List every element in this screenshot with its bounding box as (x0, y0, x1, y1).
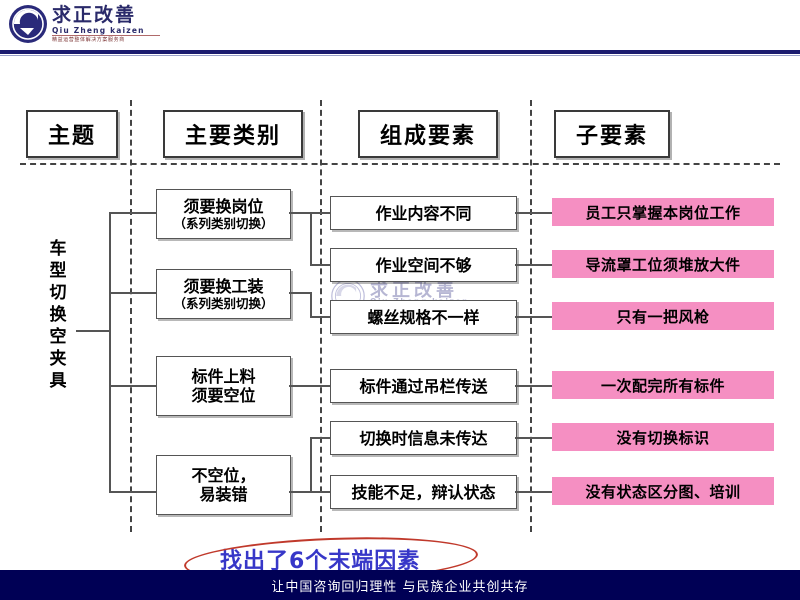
connector-comp2-to-sub2 (515, 264, 553, 266)
component-box: 作业空间不够 (330, 248, 517, 282)
connector-comp3-to-sub3 (515, 316, 553, 318)
sub-element-box: 员工只掌握本岗位工作 (552, 198, 774, 226)
sub-element-box: 一次配完所有标件 (552, 371, 774, 399)
topic-char: 换 (44, 304, 72, 326)
component-box: 作业内容不同 (330, 196, 517, 230)
connector-cat1-to-comp1 (310, 212, 330, 214)
header-row-divider (20, 163, 780, 165)
connector-cat2-stub (289, 292, 311, 294)
main-category-box: 须要换岗位 （系列类别切换） (156, 189, 291, 239)
connector-comp5-to-sub5 (515, 437, 553, 439)
connector-cat2-spine (310, 292, 312, 317)
sub-element-box: 没有状态区分图、培训 (552, 477, 774, 505)
topic-char: 车 (44, 238, 72, 260)
qiuzheng-logo-icon (8, 4, 48, 44)
connector-topic-to-cat-3 (109, 385, 156, 387)
connector-topic-to-cat-1 (109, 212, 156, 214)
main-category-line2: 易装错 (199, 485, 247, 504)
connector-topic-spine (109, 212, 111, 492)
topic-char: 型 (44, 260, 72, 282)
component-label: 技能不足，辩认状态 (351, 483, 495, 502)
component-label: 螺丝规格不一样 (367, 308, 479, 327)
main-category-box: 不空位， 易装错 (156, 455, 291, 515)
component-box: 螺丝规格不一样 (330, 300, 517, 334)
main-category-line2: （系列类别切换） (173, 216, 273, 232)
connector-cat4-to-comp6 (310, 491, 330, 493)
sub-element-box: 只有一把风枪 (552, 302, 774, 330)
connector-cat3-to-comp4 (289, 385, 330, 387)
connector-topic-to-cat-4 (109, 491, 156, 493)
component-box: 技能不足，辩认状态 (330, 475, 517, 509)
main-category-line1: 须要换岗位 (183, 197, 263, 216)
header-rule-secondary (0, 55, 800, 56)
header-component: 组成要素 (358, 110, 498, 158)
brand-tagline: 精益运营整体解决方案服务商 (52, 36, 125, 43)
slide-canvas: 求正改善 Qiu Zheng kaizen 精益运营整体解决方案服务商 主题 主… (0, 0, 800, 600)
topic-char: 夹 (44, 348, 72, 370)
brand-name-cn: 求正改善 (52, 4, 136, 26)
main-category-box: 须要换工装 （系列类别切换） (156, 269, 291, 319)
connector-cat4-to-comp5 (310, 437, 330, 439)
connector-cat1-spine (310, 212, 312, 265)
topic-char: 切 (44, 282, 72, 304)
brand-name-pinyin: Qiu Zheng kaizen (52, 26, 145, 35)
main-category-line2: （系列类别切换） (173, 296, 273, 312)
topic-char: 空 (44, 326, 72, 348)
topic-char: 具 (44, 370, 72, 392)
footer-text: 让中国咨询回归理性 与民族企业共创共存 (0, 576, 800, 595)
header-main-category: 主要类别 (163, 110, 303, 158)
connector-cat2-to-comp3 (310, 316, 330, 318)
connector-cat4-stub (289, 491, 311, 493)
main-category-line1: 须要换工装 (183, 277, 263, 296)
component-box: 标件通过吊栏传送 (330, 369, 517, 403)
connector-comp6-to-sub6 (515, 491, 553, 493)
header-rule-primary (0, 50, 800, 54)
sub-element-box: 没有切换标识 (552, 423, 774, 451)
main-category-line2: 须要空位 (191, 386, 255, 405)
connector-cat1-to-comp2 (310, 264, 330, 266)
brand-logo: 求正改善 Qiu Zheng kaizen 精益运营整体解决方案服务商 (6, 2, 166, 46)
connector-topic-stub (76, 330, 110, 332)
main-category-box: 标件上料 须要空位 (156, 356, 291, 416)
component-label: 切换时信息未传达 (359, 429, 487, 448)
component-label: 标件通过吊栏传送 (359, 377, 487, 396)
main-category-line1: 标件上料 (191, 367, 255, 386)
connector-cat4-spine (310, 437, 312, 492)
connector-cat1-stub (289, 212, 311, 214)
header-topic: 主题 (26, 110, 118, 158)
component-label: 作业空间不够 (375, 256, 471, 275)
component-label: 作业内容不同 (375, 204, 471, 223)
header-sub-element: 子要素 (554, 110, 670, 158)
connector-comp4-to-sub4 (515, 385, 553, 387)
sub-element-box: 导流罩工位须堆放大件 (552, 250, 774, 278)
connector-topic-to-cat-2 (109, 292, 156, 294)
component-box: 切换时信息未传达 (330, 421, 517, 455)
main-category-line1: 不空位， (191, 466, 255, 485)
connector-comp1-to-sub1 (515, 212, 553, 214)
topic-label: 车 型 切 换 空 夹 具 (44, 238, 72, 392)
